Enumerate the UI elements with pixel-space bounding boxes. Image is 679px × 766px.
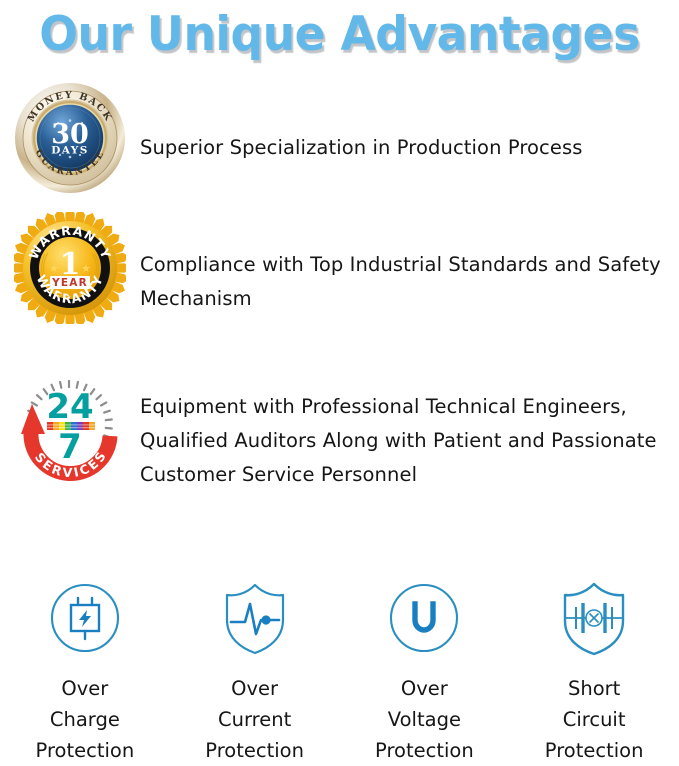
shield-short-circuit-icon <box>552 576 636 660</box>
protection-icon-wrap <box>213 572 297 664</box>
protection-icon-wrap <box>552 572 636 664</box>
advantage-text: Compliance with Top Industrial Standards… <box>140 208 679 316</box>
money-back-guarantee-badge: MONEY BACK GUARANTEE 30 DAYS <box>14 82 126 194</box>
protection-label: Over Voltage Protection <box>375 673 474 766</box>
charge-plug-bolt-icon <box>43 576 127 660</box>
advantage-row: MONEY BACK GUARANTEE 30 DAYS Superior Sp… <box>0 78 679 208</box>
advantage-badge-cell: MONEY BACK GUARANTEE 30 DAYS <box>0 78 140 194</box>
voltage-u-circle-icon <box>382 576 466 660</box>
badge-top-number: 24 <box>46 387 93 427</box>
24-7-services-badge: SERVICES 24 <box>11 372 129 484</box>
advantage-badge-cell: SERVICES 24 <box>0 368 140 484</box>
one-year-warranty-badge: WARRANTY WARRANTY 1 YEAR <box>14 212 126 324</box>
protection-item-over-voltage: Over Voltage Protection <box>340 572 510 766</box>
page-header: Our Unique Advantages <box>0 0 679 68</box>
protection-item-over-current: Over Current Protection <box>170 572 340 766</box>
protection-icon-wrap <box>382 572 466 664</box>
badge-bottom-number: 7 <box>58 427 82 467</box>
protection-icon-wrap <box>43 572 127 664</box>
advantage-row: SERVICES 24 <box>0 368 679 518</box>
shield-pulse-icon <box>213 576 297 660</box>
protection-label: Over Current Protection <box>205 673 304 766</box>
advantages-list: MONEY BACK GUARANTEE 30 DAYS Superior Sp… <box>0 78 679 518</box>
advantage-row: WARRANTY WARRANTY 1 YEAR Compli <box>0 208 679 368</box>
protection-item-over-charge: Over Charge Protection <box>0 572 170 766</box>
badge-unit: YEAR <box>51 277 88 289</box>
badge-unit: DAYS <box>51 145 88 157</box>
page-title: Our Unique Advantages <box>39 7 639 62</box>
protection-label: Over Charge Protection <box>36 673 135 766</box>
protection-item-short-circuit: Short Circuit Protection <box>509 572 679 766</box>
advantage-badge-cell: WARRANTY WARRANTY 1 YEAR <box>0 208 140 324</box>
protection-label: Short Circuit Protection <box>545 673 644 766</box>
advantage-text: Superior Specialization in Production Pr… <box>140 78 679 165</box>
advantage-text: Equipment with Professional Technical En… <box>140 368 679 492</box>
protection-features-grid: Over Charge Protection Over Current Prot… <box>0 572 679 766</box>
